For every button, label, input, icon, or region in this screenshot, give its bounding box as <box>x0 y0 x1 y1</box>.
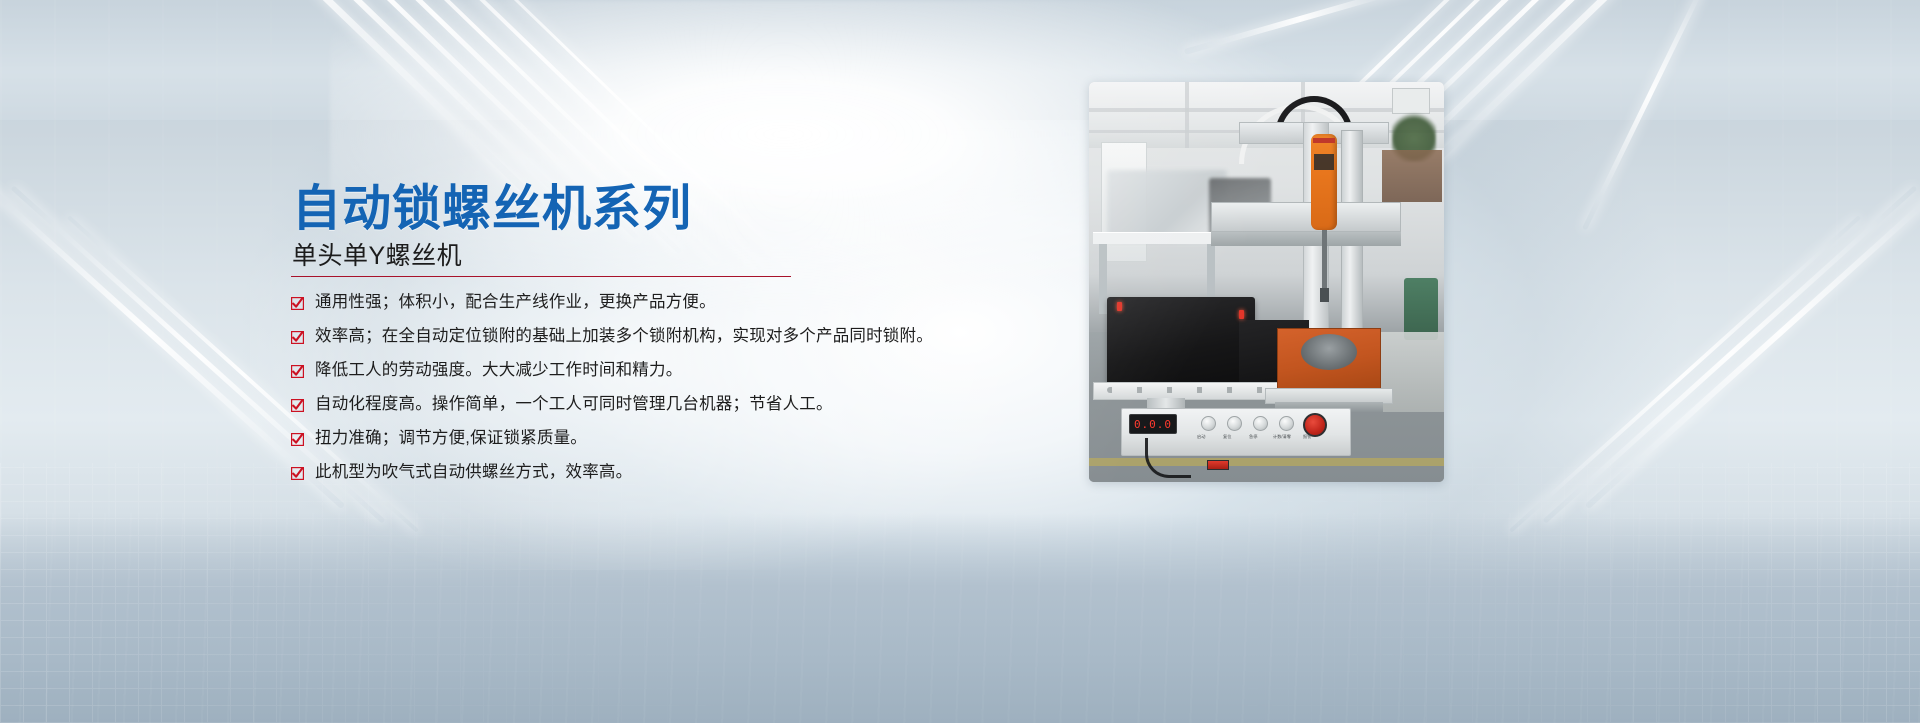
electric-screwdriver <box>1311 134 1337 230</box>
status-led <box>1117 302 1122 311</box>
list-item-label: 自动化程度高。操作简单，一个工人可同时管理几台机器；节省人工。 <box>315 394 833 415</box>
linear-rail-base <box>1211 232 1401 246</box>
panel-label: 急停 <box>1249 434 1257 440</box>
power-switch[interactable] <box>1207 460 1229 470</box>
product-banner: 自动锁螺丝机系列 单头单Y螺丝机 通用性强；体积小，配合生产线作业，更换产品方便… <box>0 0 1920 723</box>
list-item: 扭力准确；调节方便,保证锁紧质量。 <box>291 428 931 449</box>
screw-feeder-unit <box>1107 297 1255 385</box>
workbench-leg <box>1099 244 1107 314</box>
photo-scene: 0.0.0 启动 复位 急停 计数/清零 报警 <box>1089 82 1444 482</box>
workpiece-part <box>1301 334 1357 370</box>
list-item: 效率高；在全自动定位锁附的基础上加装多个锁附机构，实现对多个产品同时锁附。 <box>291 326 931 347</box>
page-subtitle: 单头单Y螺丝机 <box>292 236 462 272</box>
list-item: 通用性强；体积小，配合生产线作业，更换产品方便。 <box>291 292 931 313</box>
panel-label: 报警 <box>1303 434 1311 440</box>
banner-content: 自动锁螺丝机系列 单头单Y螺丝机 通用性强；体积小，配合生产线作业，更换产品方便… <box>0 0 1920 723</box>
list-item: 降低工人的劳动强度。大大减少工作时间和精力。 <box>291 360 931 381</box>
checkmark-icon <box>291 331 304 344</box>
title-divider <box>291 276 791 277</box>
list-item-label: 通用性强；体积小，配合生产线作业，更换产品方便。 <box>315 292 716 313</box>
waste-bin <box>1404 278 1438 340</box>
page-title: 自动锁螺丝机系列 <box>292 169 692 240</box>
list-item-label: 降低工人的劳动强度。大大减少工作时间和精力。 <box>315 360 682 381</box>
panel-label: 启动 <box>1197 434 1205 440</box>
screwdriver-tip <box>1320 288 1329 302</box>
linear-rail <box>1211 202 1401 232</box>
checkmark-icon <box>291 365 304 378</box>
list-item-label: 效率高；在全自动定位锁附的基础上加装多个锁附机构，实现对多个产品同时锁附。 <box>315 326 933 347</box>
floor-safety-line <box>1089 458 1444 466</box>
panel-label: 复位 <box>1223 434 1231 440</box>
base-plate-bolts <box>1107 387 1279 393</box>
counter-value: 0.0.0 <box>1134 419 1172 430</box>
feature-list: 通用性强；体积小，配合生产线作业，更换产品方便。 效率高；在全自动定位锁附的基础… <box>291 292 931 496</box>
checkmark-icon <box>291 297 304 310</box>
ceiling-beam <box>1089 108 1444 112</box>
list-item: 此机型为吹气式自动供螺丝方式，效率高。 <box>291 462 931 483</box>
counter-display: 0.0.0 <box>1129 414 1177 434</box>
screwdriver-stripe <box>1313 138 1335 143</box>
checkmark-icon <box>291 433 304 446</box>
list-item: 自动化程度高。操作简单，一个工人可同时管理几台机器；节省人工。 <box>291 394 931 415</box>
checkmark-icon <box>291 467 304 480</box>
panel-button[interactable] <box>1279 416 1294 431</box>
screwdriver-label <box>1314 154 1334 170</box>
wooden-cabinet <box>1382 150 1442 202</box>
panel-label: 计数/清零 <box>1273 434 1291 440</box>
product-photo: 0.0.0 启动 复位 急停 计数/清零 报警 <box>1089 82 1444 482</box>
screwdriver-bit <box>1322 230 1327 292</box>
ceiling-beam <box>1185 82 1189 148</box>
panel-button[interactable] <box>1227 416 1242 431</box>
list-item-label: 扭力准确；调节方便,保证锁紧质量。 <box>315 428 587 449</box>
checkmark-icon <box>291 399 304 412</box>
panel-button[interactable] <box>1253 416 1268 431</box>
panel-button[interactable] <box>1201 416 1216 431</box>
list-item-label: 此机型为吹气式自动供螺丝方式，效率高。 <box>315 462 632 483</box>
status-led <box>1239 310 1244 319</box>
